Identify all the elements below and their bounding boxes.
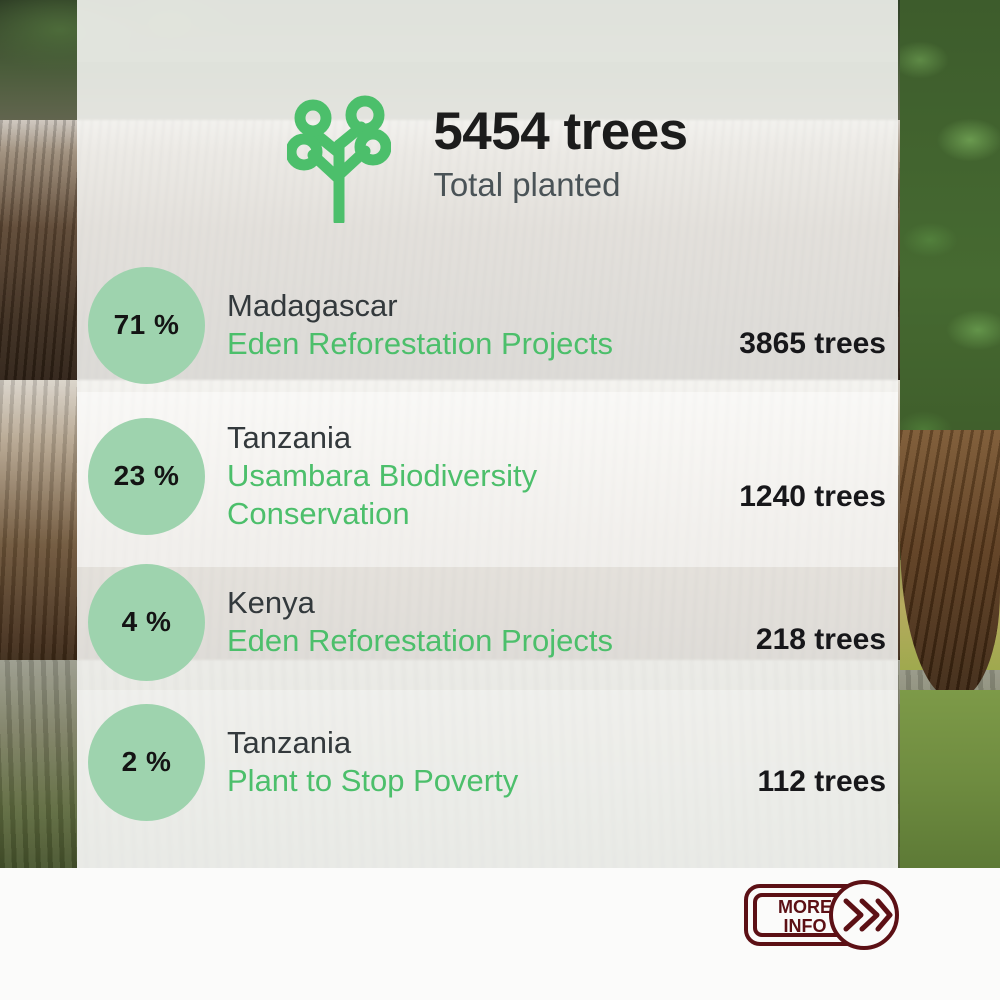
more-info-line1: MORE (778, 897, 832, 917)
percent-bubble: 71 % (88, 267, 205, 384)
country-label: Tanzania (227, 724, 677, 762)
header-text: 5454 trees Total planted (433, 104, 687, 202)
tree-count: 1240 trees (683, 480, 898, 514)
card-content: 5454 trees Total planted 71 % Madagascar… (77, 0, 898, 868)
total-label: Total planted (433, 168, 687, 203)
percent-bubble: 4 % (88, 564, 205, 681)
more-info-line2: INFO (784, 916, 827, 936)
percent-bubble: 23 % (88, 418, 205, 535)
project-label: Eden Reforestation Projects (227, 325, 677, 363)
project-list: 71 % Madagascar Eden Reforestation Proje… (77, 250, 898, 832)
list-item[interactable]: 71 % Madagascar Eden Reforestation Proje… (77, 250, 898, 400)
country-label: Tanzania (227, 419, 677, 457)
photo-grass-lower (900, 690, 1000, 868)
tree-count: 112 trees (683, 765, 898, 799)
tree-sprout-icon (287, 83, 391, 223)
percent-value: 71 % (114, 309, 180, 341)
percent-bubble: 2 % (88, 704, 205, 821)
percent-value: 23 % (114, 460, 180, 492)
project-label: Eden Reforestation Projects (227, 622, 677, 660)
project-info: Kenya Eden Reforestation Projects (227, 584, 683, 660)
list-item[interactable]: 23 % Tanzania Usambara Biodiversity Cons… (77, 400, 898, 552)
country-label: Kenya (227, 584, 677, 622)
more-info-button[interactable]: MORE INFO (742, 880, 906, 950)
list-item[interactable]: 4 % Kenya Eden Reforestation Projects 21… (77, 552, 898, 692)
project-info: Tanzania Plant to Stop Poverty (227, 724, 683, 800)
project-label: Usambara Biodiversity Conservation (227, 457, 677, 533)
tree-count: 3865 trees (683, 327, 898, 361)
infographic-card: 5454 trees Total planted 71 % Madagascar… (0, 0, 1000, 1000)
project-info: Tanzania Usambara Biodiversity Conservat… (227, 419, 683, 532)
percent-value: 2 % (122, 746, 172, 778)
country-label: Madagascar (227, 287, 677, 325)
total-count: 5454 trees (433, 104, 687, 160)
list-item[interactable]: 2 % Tanzania Plant to Stop Poverty 112 t… (77, 692, 898, 832)
project-label: Plant to Stop Poverty (227, 762, 677, 800)
tree-count: 218 trees (683, 623, 898, 657)
header: 5454 trees Total planted (77, 78, 898, 228)
percent-value: 4 % (122, 606, 172, 638)
project-info: Madagascar Eden Reforestation Projects (227, 287, 683, 363)
more-info-text-group: MORE INFO (778, 897, 832, 936)
